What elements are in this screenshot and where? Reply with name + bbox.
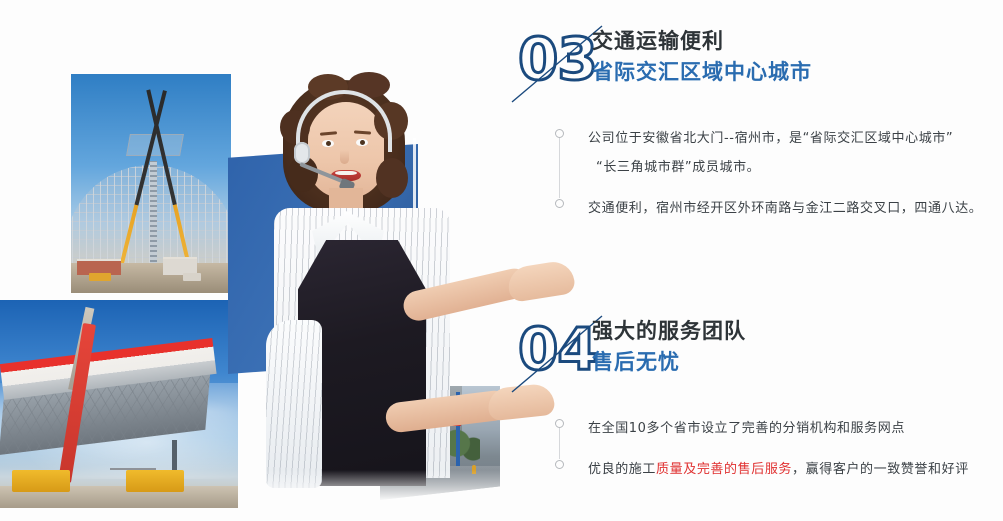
- bullet-line: 优良的施工质量及完善的售后服务，赢得客户的一致赞誉和好评: [588, 455, 1002, 484]
- site-vehicle-a: [89, 273, 111, 281]
- list-item: 公司位于安徽省北大门--宿州市，是“省际交汇区域中心城市” “长三角城市群”成员…: [552, 124, 1002, 182]
- bullet-circle-icon: [555, 419, 564, 428]
- section-number-03: 03: [514, 26, 592, 98]
- yellow-crane-a: [12, 470, 70, 492]
- section-title: 交通运输便利: [592, 26, 812, 56]
- headset-earpiece-icon: [294, 142, 310, 164]
- bottom-fade: [260, 470, 510, 510]
- yellow-crane-b: [126, 470, 184, 492]
- list-item: 优良的施工质量及完善的售后服务，赢得客户的一致赞誉和好评: [552, 455, 1002, 484]
- section-headings-03: 交通运输便利 省际交汇区域中心城市: [592, 26, 812, 88]
- bullet-line: 交通便利，宿州市经开区外环南路与金江二路交叉口，四通八达。: [588, 194, 1002, 223]
- bullet-text: “长三角城市群”成员城市。: [596, 160, 760, 175]
- section-bullets-03: 公司位于安徽省北大门--宿州市，是“省际交汇区域中心城市” “长三角城市群”成员…: [552, 124, 1002, 223]
- photo-steel-space-frame-construction: [71, 74, 231, 293]
- bullet-circle-icon: [555, 199, 564, 208]
- list-item: 在全国10多个省市设立了完善的分销机构和服务网点: [552, 414, 1002, 443]
- bullet-line: 在全国10多个省市设立了完善的分销机构和服务网点: [588, 414, 1002, 443]
- site-vehicle-b: [183, 273, 201, 281]
- bullet-text: 公司位于安徽省北大门--宿州市，是“省际交汇区域中心城市”: [588, 131, 953, 146]
- nose: [340, 150, 349, 164]
- bullet-line: 公司位于安徽省北大门--宿州市，是“省际交汇区域中心城市”: [588, 124, 1002, 153]
- section-number-04: 04: [514, 316, 592, 388]
- section-subtitle: 省际交汇区域中心城市: [592, 56, 812, 88]
- section-title: 强大的服务团队: [592, 316, 746, 346]
- section-bullets-04: 在全国10多个省市设立了完善的分销机构和服务网点 优良的施工质量及完善的售后服务…: [552, 414, 1002, 484]
- advantages-content: 03 交通运输便利 省际交汇区域中心城市 公司位于安徽省北大门--宿州市，是“省…: [500, 0, 1003, 521]
- bullet-line-continued: “长三角城市群”成员城市。: [588, 153, 1002, 182]
- bullet-text: ，赢得客户的一致赞誉和好评: [792, 462, 969, 477]
- bullet-text: 优良的施工: [588, 462, 656, 477]
- shirt-sleeve-left: [266, 320, 322, 488]
- bullet-text: 在全国10多个省市设立了完善的分销机构和服务网点: [588, 421, 905, 436]
- bullet-connector-line: [559, 138, 560, 198]
- bullet-circle-icon: [555, 129, 564, 138]
- section-number-text: 03: [518, 28, 597, 90]
- section-subtitle: 售后无忧: [592, 346, 746, 378]
- customer-service-representative: [236, 58, 516, 510]
- advantages-banner: 03 交通运输便利 省际交汇区域中心城市 公司位于安徽省北大门--宿州市，是“省…: [0, 0, 1003, 521]
- photo-red-canopy-roof-lift: [0, 300, 238, 508]
- bullet-text: 交通便利，宿州市经开区外环南路与金江二路交叉口，四通八达。: [588, 201, 982, 216]
- bullet-text-highlight: 质量及完善的售后服务: [656, 462, 792, 477]
- image-collage: [0, 0, 500, 521]
- hair-curl: [376, 158, 408, 198]
- section-number-text: 04: [518, 318, 597, 380]
- section-headings-04: 强大的服务团队 售后无忧: [592, 316, 746, 378]
- bullet-circle-icon: [555, 460, 564, 469]
- list-item: 交通便利，宿州市经开区外环南路与金江二路交叉口，四通八达。: [552, 194, 1002, 223]
